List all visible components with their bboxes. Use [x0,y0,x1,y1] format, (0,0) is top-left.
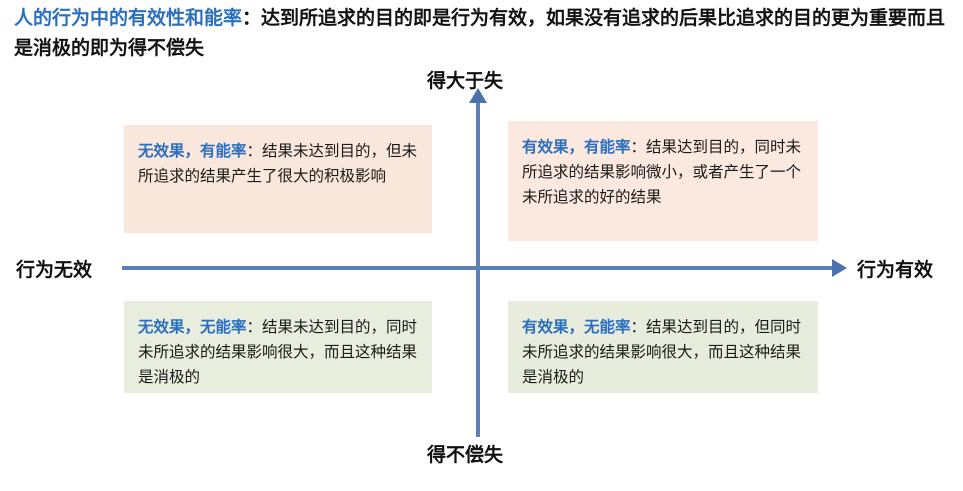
quadrant-bottom-left: 无效果，无能率：结果未达到目的，同时未所追求的结果影响很大，而且这种结果是消极的 [124,301,432,393]
quadrant-bottom-right-lead: 有效果，无能率 [522,319,631,336]
quadrant-bottom-left-lead: 无效果，无能率 [138,319,247,336]
quadrant-top-left-lead: 无效果，有能率 [138,143,247,160]
quadrant-bottom-right: 有效果，无能率：结果达到目的，但同时未所追求的结果影响很大，而且这种结果是消极的 [508,301,818,393]
axis-label-right: 行为有效 [857,255,933,282]
quadrant-top-right: 有效果，有能率：结果达到目的，同时未所追求的结果影响微小，或者产生了一个未所追求… [508,121,818,241]
page-title: 人的行为中的有效性和能率：达到所追求的目的即是行为有效，如果没有追求的后果比追求… [14,4,954,64]
quadrant-top-left: 无效果，有能率：结果未达到目的，但未所追求的结果产生了很大的积极影响 [124,125,432,233]
quadrant-top-right-lead: 有效果，有能率 [522,139,631,156]
axis-label-bottom: 得不偿失 [427,440,503,467]
axis-label-left: 行为无效 [16,255,92,282]
horizontal-axis-arrow-icon [832,259,847,277]
page-title-accent: 人的行为中的有效性和能率 [14,8,242,29]
vertical-axis-line [476,100,480,437]
axis-label-top: 得大于失 [427,66,503,93]
quadrant-diagram-page: 人的行为中的有效性和能率：达到所追求的目的即是行为有效，如果没有追求的后果比追求… [0,0,963,491]
